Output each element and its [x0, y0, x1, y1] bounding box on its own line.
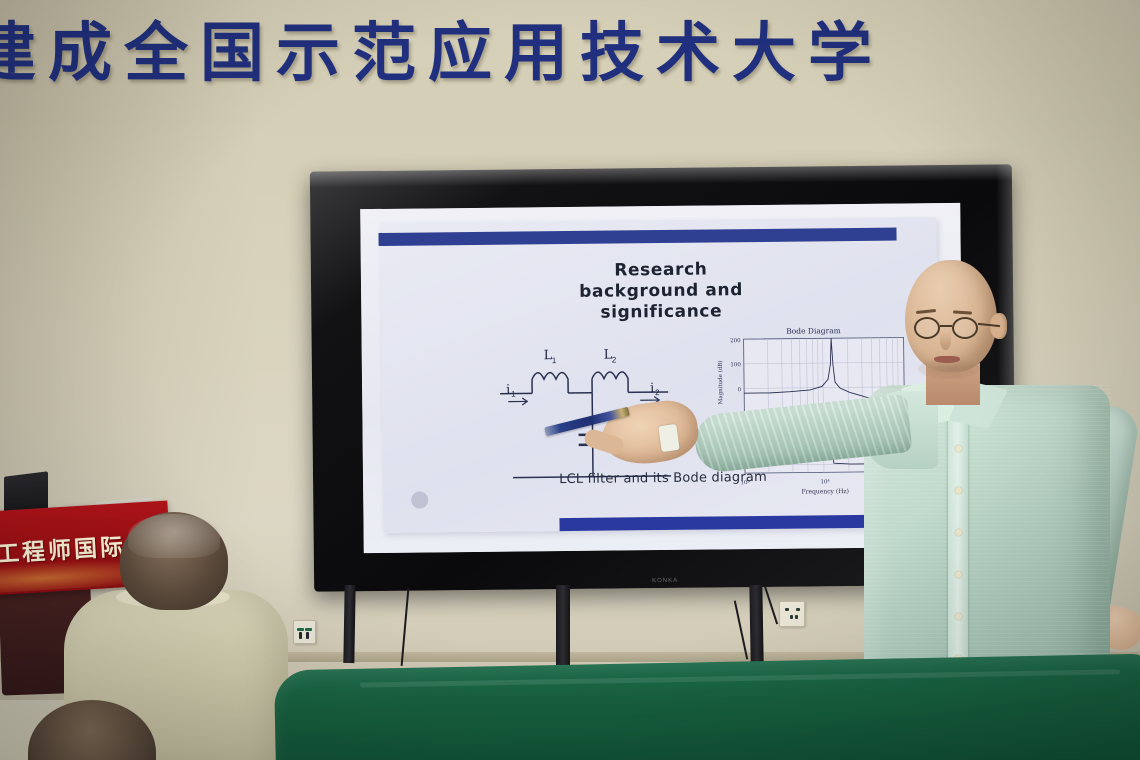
shirt-placket [948, 415, 968, 685]
wall-plate-pin-4 [306, 632, 309, 639]
conference-room-scene: 建成全国示范应用技术大学 KONKA Research background a… [0, 0, 1140, 760]
slide-decorative-dot [411, 491, 428, 508]
audience-1-hair [128, 514, 220, 558]
conference-table [274, 654, 1140, 760]
bode-mag-tick-100: 100 [730, 362, 741, 368]
bode-mag-axis-label: Magnitude (dB) [717, 360, 724, 404]
bode-mag-tick-0: 0 [738, 387, 742, 393]
circuit-label-l1-sub: 1 [552, 356, 557, 365]
wall-plate-pin-3 [299, 632, 302, 639]
wrist-bandage [658, 424, 679, 452]
circuit-label-i2: i [650, 381, 654, 396]
bode-mag-tick-200: 200 [730, 338, 741, 344]
wall-plate-pin-1 [297, 628, 304, 631]
circuit-label-i2-sub: 2 [655, 388, 660, 397]
shirt-button-3 [955, 529, 962, 536]
outlet-pin-4 [795, 615, 798, 619]
wall-plate-left[interactable] [293, 620, 316, 644]
circuit-label-l2-sub: 2 [612, 355, 617, 364]
shirt-button-1 [955, 445, 962, 452]
audience-2-head [28, 700, 156, 760]
shirt-button-4 [955, 571, 962, 578]
eyeglass-temple [978, 323, 1000, 327]
shirt-button-2 [955, 487, 962, 494]
tv-brand-label: KONKA [652, 578, 678, 584]
outlet-pin-1 [785, 608, 789, 611]
eyeglass-lens-right [952, 317, 978, 339]
eyeglass-bridge [940, 325, 952, 327]
presenter-chin-shadow [918, 359, 980, 379]
outlet-pin-2 [796, 608, 800, 611]
circuit-label-i1-sub: 1 [511, 390, 516, 399]
outlet-pin-3 [790, 615, 793, 619]
power-outlet-right[interactable] [779, 601, 805, 627]
tv-stand-leg-middle [556, 585, 570, 665]
eyeglasses-icon [904, 315, 1000, 341]
presenter-nose [940, 331, 951, 350]
audience-member-2 [10, 700, 190, 760]
wall-plate-pin-2 [305, 628, 312, 631]
wall-sign-text: 建成全国示范应用技术大学 [0, 14, 872, 94]
tv-stand-leg-right [749, 585, 763, 663]
eyeglass-lens-left [914, 317, 940, 339]
shirt-button-5 [955, 613, 962, 620]
presenter [830, 255, 1130, 675]
tv-stand-leg-left [343, 585, 355, 663]
circuit-label-i1: i [506, 383, 510, 398]
